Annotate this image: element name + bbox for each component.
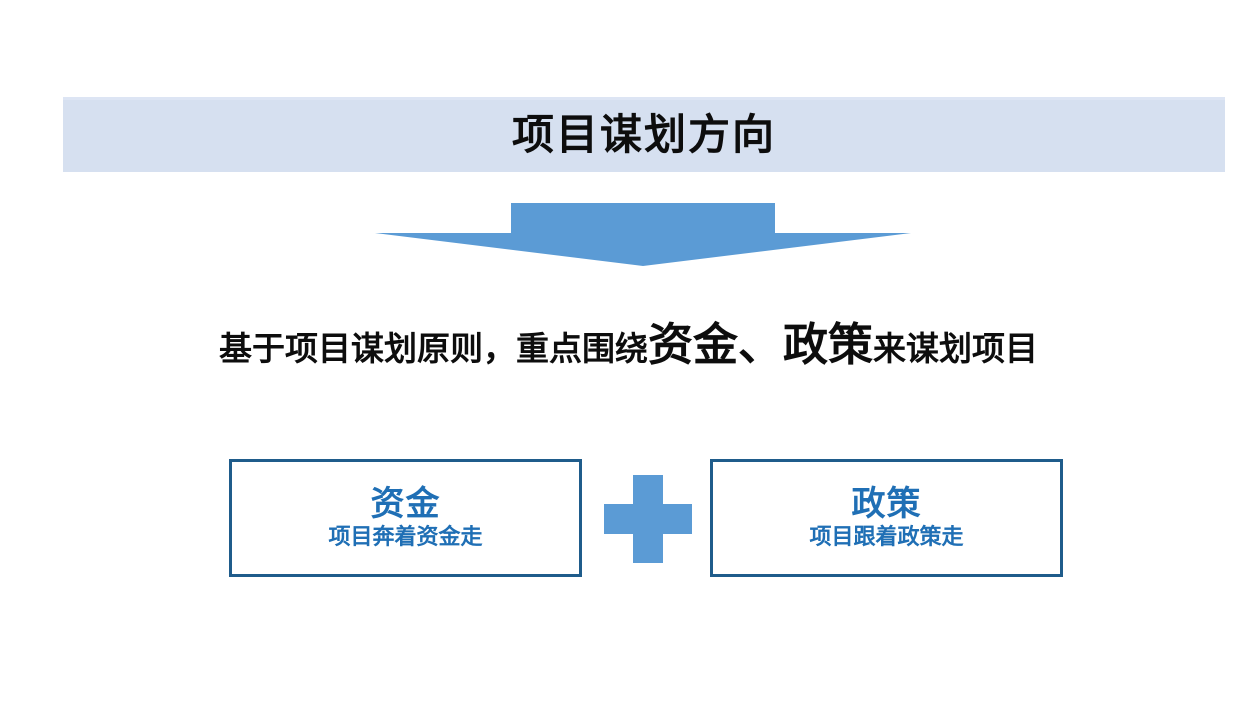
down-arrow-shape [375,203,911,266]
plus-icon-vertical-bar [633,475,663,563]
concept-title-funding: 资金 [371,487,441,523]
concept-subtitle-policy: 项目跟着政策走 [809,525,963,549]
concept-row: 资金 项目奔着资金走 政策 项目跟着政策走 [0,459,1257,583]
concept-box-funding[interactable]: 资金 项目奔着资金走 [229,459,582,577]
headline-segment-3: 来谋划项目 [873,330,1038,367]
headline-segment-1: 基于项目谋划原则，重点围绕 [219,330,648,367]
headline-sentence: 基于项目谋划原则，重点围绕资金、政策来谋划项目 [0,322,1257,367]
concept-subtitle-funding: 项目奔着资金走 [328,525,482,549]
concept-box-policy[interactable]: 政策 项目跟着政策走 [710,459,1063,577]
plus-icon [604,475,692,563]
page-title: 项目谋划方向 [512,114,776,156]
slide-canvas: 项目谋划方向 基于项目谋划原则，重点围绕资金、政策来谋划项目 资金 项目奔着资金… [0,0,1257,716]
concept-title-policy: 政策 [852,487,922,523]
title-banner: 项目谋划方向 [63,97,1225,172]
headline-segment-emphasis: 资金、政策 [648,319,873,370]
down-arrow-icon [375,203,911,266]
